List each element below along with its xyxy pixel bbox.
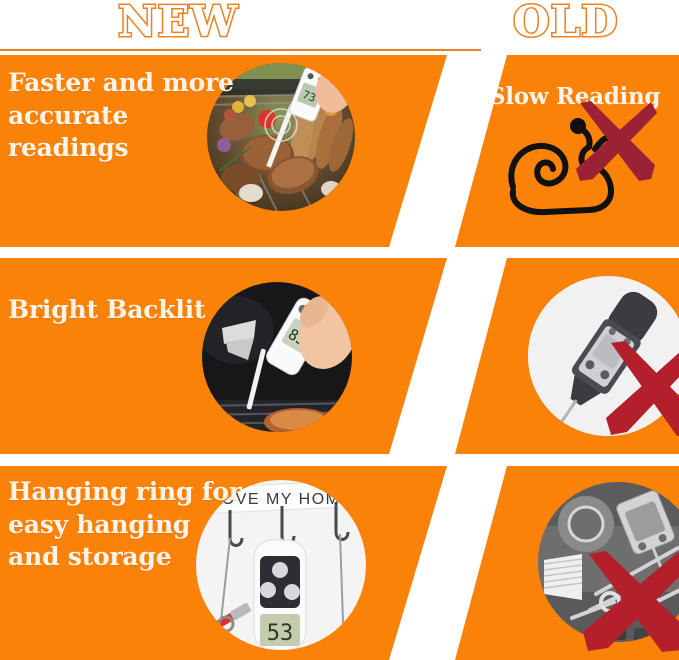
- header-divider-rule: [0, 49, 481, 51]
- row-2-old-panel: [455, 258, 679, 454]
- comparison-infographic: NEW OLD Faster and more accurate reading…: [0, 0, 679, 660]
- comparison-row-2: Bright Backlit: [0, 258, 679, 454]
- header-bar: NEW OLD: [0, 0, 679, 52]
- row-3-red-x-icon: [580, 550, 679, 654]
- row-1-red-x-icon: [573, 99, 659, 185]
- row-2-red-x-icon: [603, 340, 679, 438]
- row-1-new-panel: Faster and more accurate readings: [0, 55, 447, 247]
- header-old-label: OLD: [513, 0, 619, 46]
- svg-text:53: 53: [267, 621, 294, 646]
- row-2-new-text: Bright Backlit: [8, 294, 278, 327]
- row-3-old-panel: [455, 466, 679, 660]
- comparison-row-1: Faster and more accurate readings: [0, 55, 679, 247]
- row-2-new-panel: Bright Backlit: [0, 258, 447, 454]
- row-1-old-panel: Slow Reading: [455, 55, 679, 247]
- row-3-new-text: Hanging ring for easy hanging and storag…: [8, 476, 248, 574]
- row-1-new-text: Faster and more accurate readings: [8, 67, 243, 165]
- comparison-row-3: Hanging ring for easy hanging and storag…: [0, 466, 679, 660]
- header-new-label: NEW: [118, 0, 239, 46]
- row-3-new-panel: Hanging ring for easy hanging and storag…: [0, 466, 447, 660]
